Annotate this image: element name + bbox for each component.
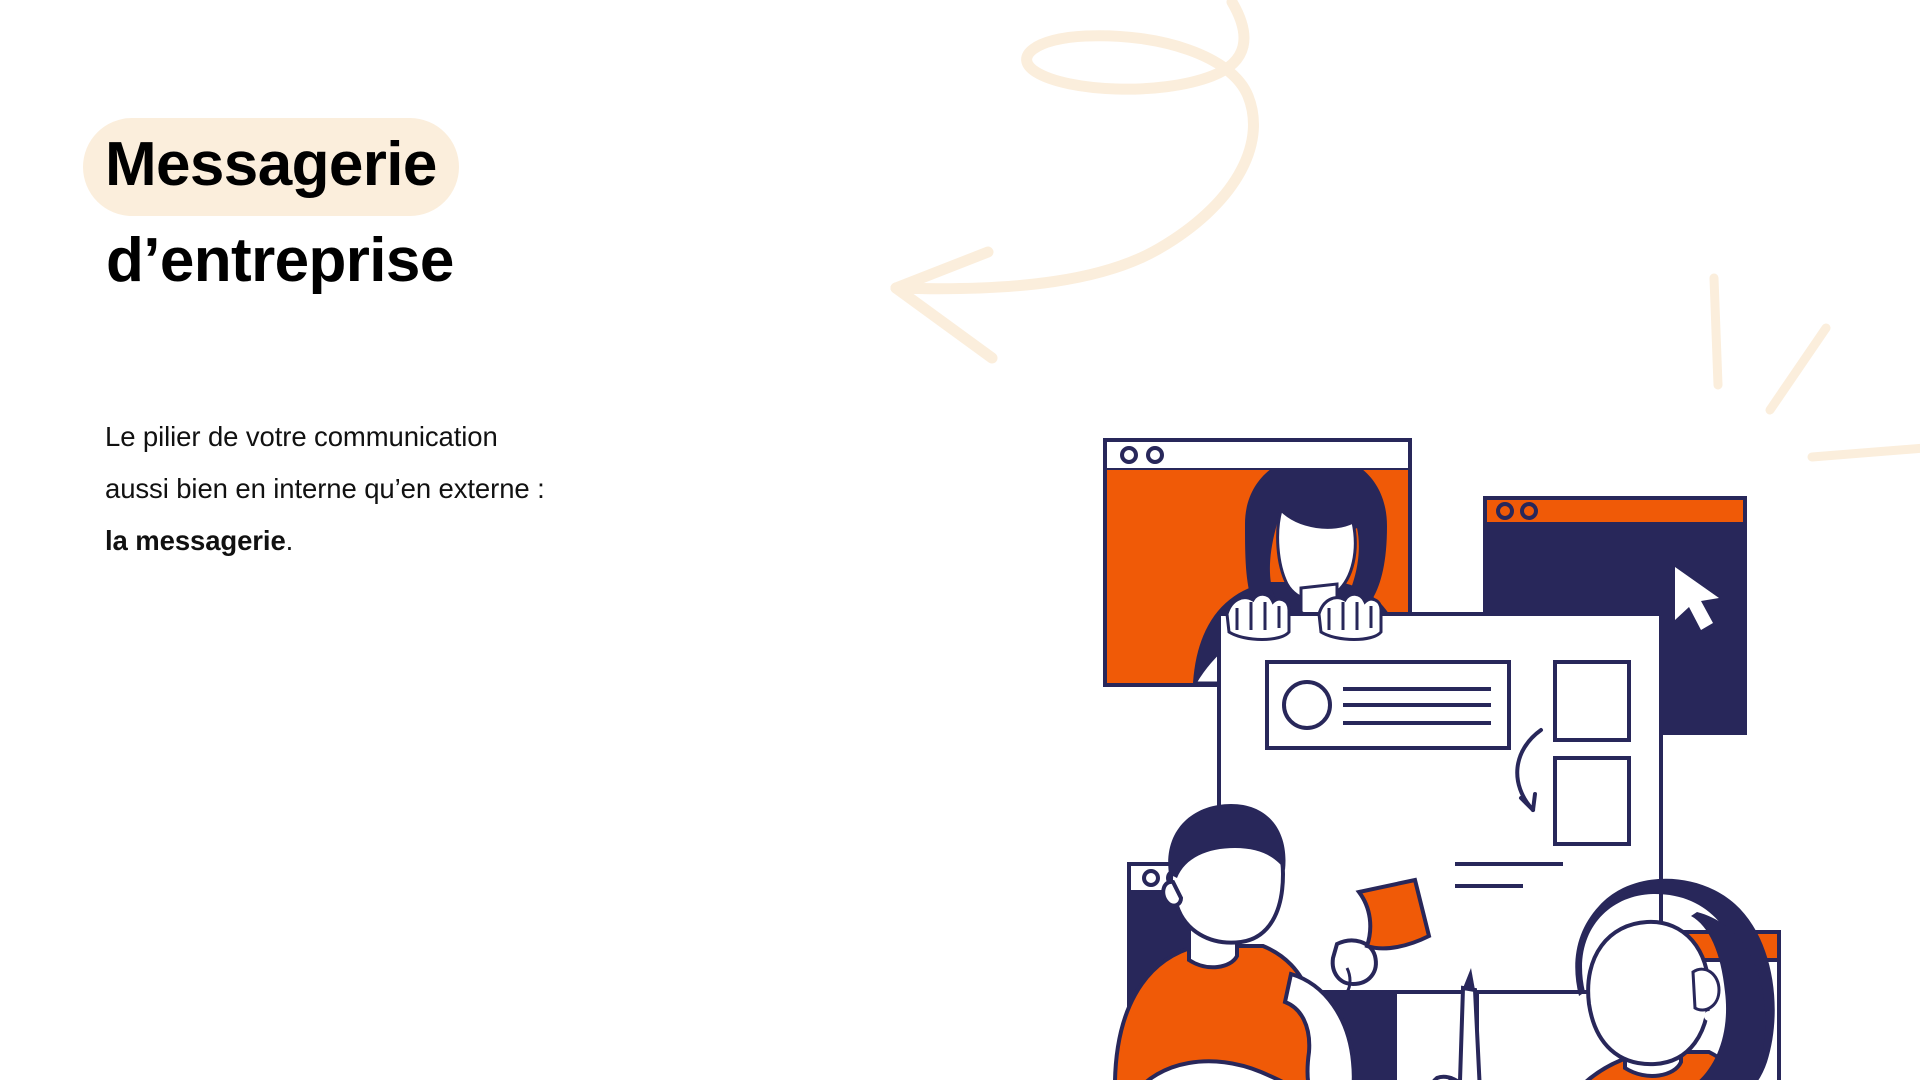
earring-dots-icon (1704, 995, 1714, 1037)
body-line-2: aussi bien en interne qu’en externe : (105, 463, 817, 515)
avatar-circle-icon (1284, 682, 1330, 728)
page-title-line-1: Messagerie (105, 118, 845, 216)
orange-sticky-note (1359, 880, 1429, 948)
title-highlight-pill: Messagerie (83, 118, 459, 216)
card-thumbnail-1 (1555, 662, 1629, 740)
body-line-1-text: Le pilier de votre communication (105, 421, 498, 452)
body-emphasis-text: la messagerie (105, 525, 286, 556)
card-thumbnail-2 (1555, 758, 1629, 844)
body-line-2-text: aussi bien en interne qu’en externe : (105, 473, 545, 504)
body-line-1: Le pilier de votre communication (105, 411, 817, 463)
center-white-card (1219, 614, 1661, 992)
card-message-row (1267, 662, 1509, 748)
body-line-3-tail: . (286, 525, 294, 556)
page-title: Messagerie d’entreprise (105, 118, 845, 303)
slide-root: Messagerie d’entreprise Le pilier de vot… (0, 0, 1920, 1080)
body-paragraph: Le pilier de votre communication aussi b… (105, 411, 817, 567)
text-column: Messagerie d’entreprise Le pilier de vot… (105, 118, 845, 567)
curved-arrow-doodle (860, 0, 1280, 390)
team-communication-illustration (1085, 412, 1875, 1080)
body-line-3: la messagerie. (105, 515, 817, 567)
page-title-line-2: d’entreprise (105, 218, 845, 304)
